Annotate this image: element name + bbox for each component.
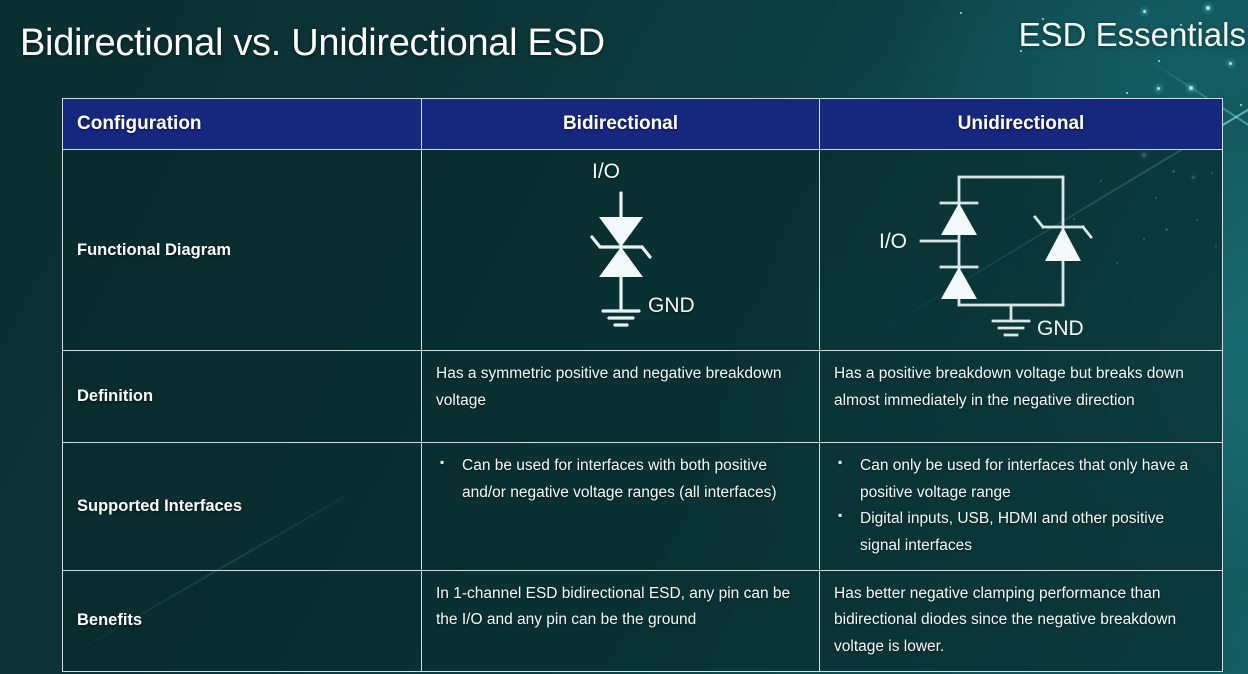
particle-dot (1189, 86, 1193, 90)
list-item: Can only be used for interfaces that onl… (856, 453, 1208, 506)
diode-triangle-lower-left (941, 267, 977, 299)
particle-dot (1126, 92, 1128, 94)
particle-dot (1240, 104, 1242, 106)
bidirectional-gnd-label: GND (648, 294, 695, 318)
particle-dot (1158, 60, 1160, 62)
comparison-table: Configuration Bidirectional Unidirection… (62, 98, 1223, 672)
unidirectional-gnd-label: GND (1037, 317, 1084, 340)
slide-canvas: Bidirectional vs. Unidirectional ESD ESD… (0, 0, 1248, 674)
diode-triangle-upper (599, 217, 643, 247)
table-header-row: Configuration Bidirectional Unidirection… (63, 99, 1223, 150)
diode-triangle-zener-right (1045, 227, 1081, 261)
cell-benefits-bidirectional: In 1-channel ESD bidirectional ESD, any … (422, 570, 820, 671)
diode-triangle-lower (599, 247, 643, 277)
row-label-supported-interfaces: Supported Interfaces (63, 443, 422, 571)
diode-triangle-upper-left (941, 203, 977, 235)
bidirectional-io-label: I/O (592, 160, 620, 184)
particle-dot (1229, 62, 1232, 65)
bullet-list-unidirectional: Can only be used for interfaces that onl… (834, 453, 1208, 560)
list-item: Can be used for interfaces with both pos… (458, 453, 805, 506)
table-row-supported-interfaces: Supported Interfaces Can be used for int… (63, 443, 1223, 571)
cell-unidirectional-diagram: I/O GND (820, 150, 1223, 351)
table-row-benefits: Benefits In 1-channel ESD bidirectional … (63, 570, 1223, 671)
row-label-benefits: Benefits (63, 570, 422, 671)
unidirectional-io-label: I/O (879, 230, 907, 253)
cell-definition-unidirectional: Has a positive breakdown voltage but bre… (820, 351, 1223, 443)
table-row-definition: Definition Has a symmetric positive and … (63, 351, 1223, 443)
particle-dot (1143, 10, 1146, 13)
brand-label: ESD Essentials (1019, 16, 1246, 54)
column-header-unidirectional: Unidirectional (820, 99, 1223, 150)
column-header-bidirectional: Bidirectional (422, 99, 820, 150)
cell-benefits-unidirectional: Has better negative clamping performance… (820, 570, 1223, 671)
table-row-functional-diagram: Functional Diagram (63, 150, 1223, 351)
unidirectional-esd-array-icon: I/O GND (871, 155, 1171, 345)
page-title: Bidirectional vs. Unidirectional ESD (20, 22, 605, 65)
cell-supported-interfaces-bidirectional: Can be used for interfaces with both pos… (422, 443, 820, 571)
particle-dot (960, 12, 962, 14)
cell-definition-bidirectional: Has a symmetric positive and negative br… (422, 351, 820, 443)
row-label-functional-diagram: Functional Diagram (63, 150, 422, 351)
cell-bidirectional-diagram (422, 150, 820, 351)
particle-dot (1206, 6, 1210, 10)
bidirectional-tvs-diode-icon (506, 155, 736, 345)
row-label-definition: Definition (63, 351, 422, 443)
column-header-configuration: Configuration (63, 99, 422, 150)
cell-supported-interfaces-unidirectional: Can only be used for interfaces that onl… (820, 443, 1223, 571)
bullet-list-bidirectional: Can be used for interfaces with both pos… (436, 453, 805, 506)
particle-dot (1157, 87, 1160, 90)
list-item: Digital inputs, USB, HDMI and other posi… (856, 506, 1208, 559)
